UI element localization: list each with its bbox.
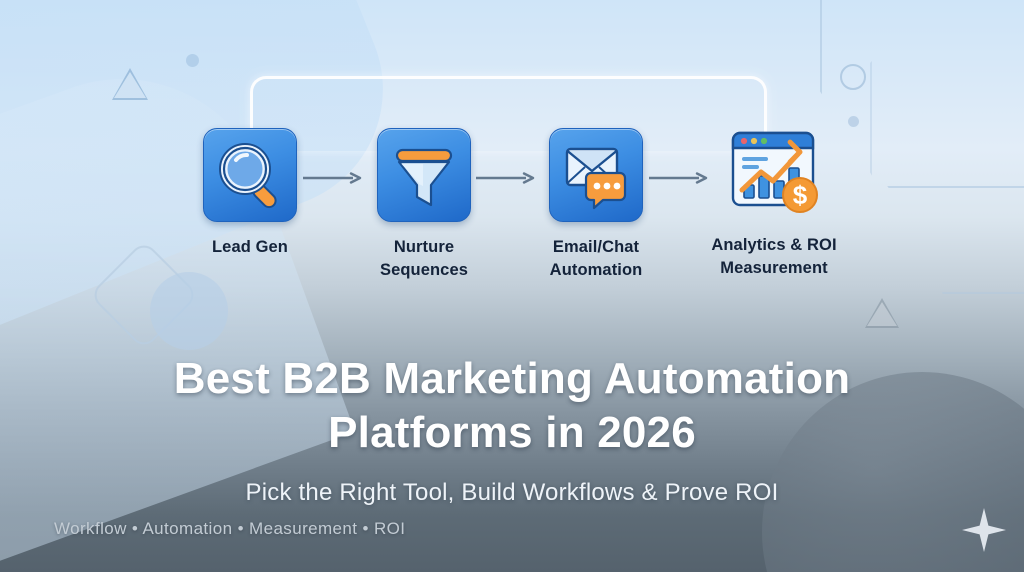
arrow-right-icon xyxy=(303,172,365,184)
arrow-right-icon xyxy=(649,172,711,184)
magnifier-icon xyxy=(203,128,297,222)
workflow-step-lead-gen[interactable]: Lead Gen xyxy=(175,128,325,259)
tagline: Workflow • Automation • Measurement • RO… xyxy=(54,519,405,539)
funnel-icon xyxy=(377,128,471,222)
triangle-outline-icon xyxy=(112,68,148,100)
workflow-step-analytics[interactable]: $ Analytics & ROIMeasurement xyxy=(699,128,849,280)
svg-text:$: $ xyxy=(793,180,808,210)
page-subtitle: Pick the Right Tool, Build Workflows & P… xyxy=(0,479,1024,507)
dot-icon-right xyxy=(848,116,859,127)
workflow-step-label: Lead Gen xyxy=(175,236,325,259)
workflow-step-label: Email/ChatAutomation xyxy=(521,236,671,282)
triangle-outline-right-icon xyxy=(862,298,902,328)
analytics-dashboard-icon: $ xyxy=(728,128,820,220)
workflow-step-label: NurtureSequences xyxy=(349,236,499,282)
workflow-step-label: Analytics & ROIMeasurement xyxy=(699,234,849,280)
page-title-line-2: Platforms in 2026 xyxy=(0,406,1024,460)
envelope-chat-icon xyxy=(549,128,643,222)
sparkle-icon xyxy=(962,508,1006,552)
dot-icon-left xyxy=(186,54,199,67)
workflow-diagram: Lead Gen NurtureSequences xyxy=(0,128,1024,298)
circle-outline-icon xyxy=(840,64,866,90)
workflow-step-nurture[interactable]: NurtureSequences xyxy=(349,128,499,282)
workflow-step-email-chat[interactable]: Email/ChatAutomation xyxy=(521,128,671,282)
slide-canvas: Lead Gen NurtureSequences xyxy=(0,0,1024,572)
page-title: Best B2B Marketing Automation Platforms … xyxy=(0,352,1024,459)
page-title-line-1: Best B2B Marketing Automation xyxy=(0,352,1024,406)
arrow-right-icon xyxy=(476,172,538,184)
headline-block: Best B2B Marketing Automation Platforms … xyxy=(0,352,1024,507)
